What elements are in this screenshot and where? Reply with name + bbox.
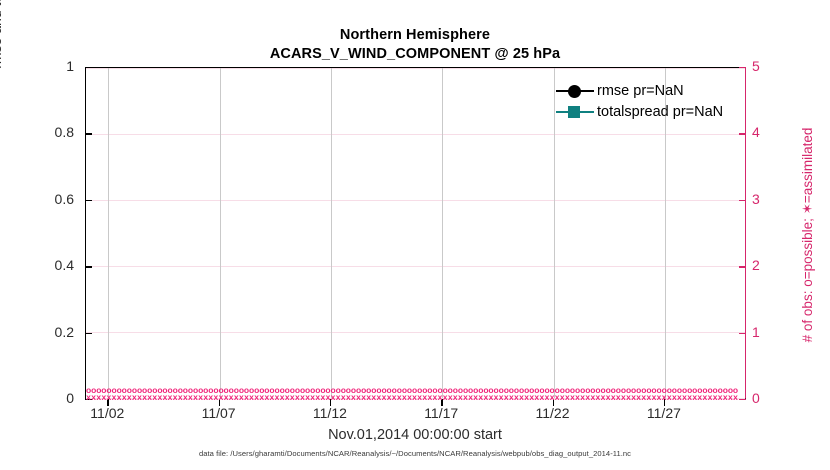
y-tick-label-left: 0.8 [30,124,74,140]
y-tick-right [739,200,746,201]
obs-assimilated-marker: x [733,394,738,401]
y-tick-label-right: 5 [752,58,782,74]
y-tick-label-right: 4 [752,124,782,140]
legend-label-rmse: rmse pr=NaN [594,83,684,99]
y-tick-label-left: 1 [30,58,74,74]
obs-assimilated-row: xxxxxxxxxxxxxxxxxxxxxxxxxxxxxxxxxxxxxxxx… [86,394,745,401]
gridline-horizontal [86,332,745,333]
y-tick-right [739,333,746,334]
x-tick-label: 11/27 [629,405,699,421]
y-tick-label-right: 3 [752,191,782,207]
gridline-vertical [554,68,555,398]
gridline-horizontal [86,200,745,201]
rmse-marker-icon [556,84,594,98]
gridline-vertical [220,68,221,398]
legend: rmse pr=NaN totalspread pr=NaN [556,80,723,122]
y-tick-right [739,133,746,134]
y-tick-label-left: 0.4 [30,257,74,273]
y-tick-label-left: 0.6 [30,191,74,207]
y-tick-left [85,333,92,334]
y-tick-right [739,266,746,267]
y-tick-left [85,133,92,134]
page-title: Northern Hemisphere [0,26,830,45]
data-file-footer: data file: /Users/gharamti/Documents/NCA… [0,449,830,458]
y-tick-label-right: 1 [752,324,782,340]
y-tick-label-left: 0.2 [30,324,74,340]
x-tick-label: 11/17 [406,405,476,421]
legend-label-totalspread: totalspread pr=NaN [594,104,723,120]
y-axis-left-label: rmse and totalspread [0,0,4,118]
gridline-vertical [442,68,443,398]
x-tick-label: 11/12 [295,405,365,421]
y-tick-label-left: 0 [30,390,74,406]
y-tick-label-right: 0 [752,390,782,406]
y-tick-right [739,67,746,68]
y-tick-label-right: 2 [752,257,782,273]
x-tick-label: 11/02 [72,405,142,421]
y-tick-left [85,200,92,201]
x-axis-label: Nov.01,2014 00:00:00 start [0,427,830,443]
gridline-horizontal [86,134,745,135]
gridline-vertical [108,68,109,398]
gridline-horizontal [86,266,745,267]
legend-item-totalspread[interactable]: totalspread pr=NaN [556,101,723,122]
chart-title-block: Northern Hemisphere ACARS_V_WIND_COMPONE… [0,26,830,64]
y-tick-left [85,67,92,68]
x-tick-label: 11/07 [184,405,254,421]
chart-subtitle: ACARS_V_WIND_COMPONENT @ 25 hPa [0,45,830,64]
legend-item-rmse[interactable]: rmse pr=NaN [556,80,723,101]
chart-canvas: Northern Hemisphere ACARS_V_WIND_COMPONE… [0,0,830,470]
y-axis-right-label: # of obs: o=possible; ✶=assimilated [800,70,816,400]
gridline-vertical [331,68,332,398]
y-tick-left [85,266,92,267]
x-tick-label: 11/22 [518,405,588,421]
obs-marker-band: oooooooooooooooooooooooooooooooooooooooo… [86,387,745,400]
totalspread-marker-icon [556,105,594,119]
gridline-horizontal [86,68,745,69]
